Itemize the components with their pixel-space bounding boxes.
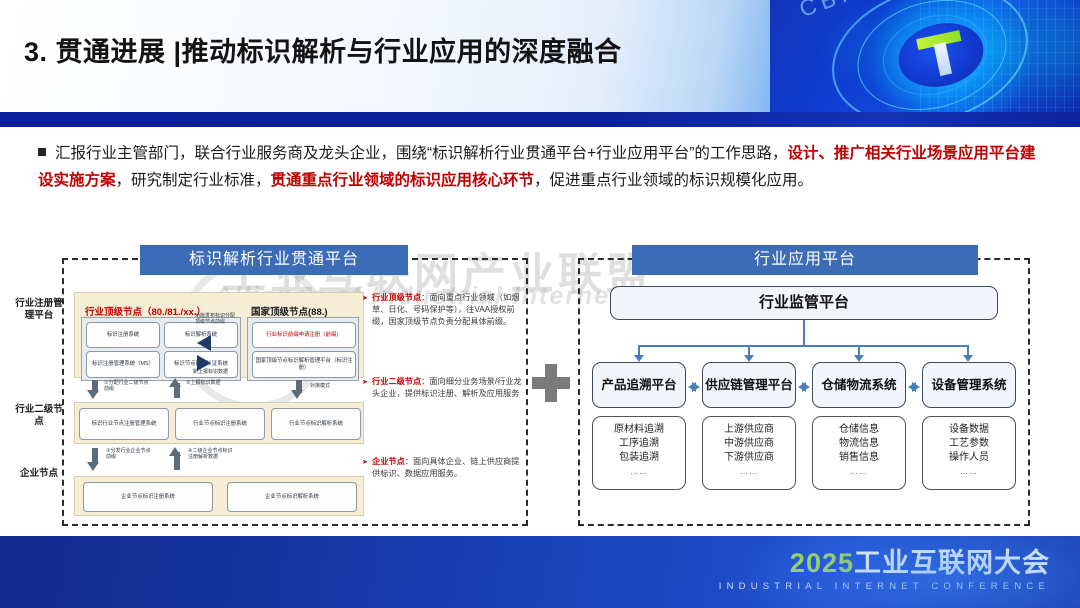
- detail-item: 上游供应商: [703, 423, 795, 437]
- industry-top-node-title: 行业顶级节点（80./81./xx.）: [85, 304, 206, 318]
- arrow-label-report-up: 新上报标识数据: [193, 369, 241, 375]
- box-industry-node-resolution: 行业节点标识解析系统: [271, 408, 361, 440]
- detail-list-logistics: 仓储信息物流信息销售信息……: [812, 416, 906, 490]
- box-enterprise-registration: 企业节点标识注册系统: [83, 482, 213, 512]
- note-secondary-node: 行业二级节点：面向细分业务场景/行业龙头企业，提供标识注册、解析及应用服务: [372, 376, 522, 400]
- slide-footer: 2025工业互联网大会 INDUSTRIAL INTERNET CONFEREN…: [0, 536, 1080, 608]
- arrow-label-2: ②上报标识数据: [186, 380, 232, 386]
- box-supply-chain-mgmt: 供应链管理平台: [702, 362, 796, 408]
- detail-item: 操作人员: [923, 451, 1015, 465]
- box-title-line: 设备管理: [931, 377, 981, 393]
- box-title-line: 产品追溯: [601, 377, 651, 393]
- box-warehouse-logistics: 仓储物流系统: [812, 362, 906, 408]
- national-top-node-title: 国家顶级节点(88.): [251, 304, 328, 318]
- box-title-line: 平台: [768, 377, 793, 393]
- arrow-label-3: 对接模式: [310, 383, 330, 389]
- paragraph-segment-2: ，研究制定行业标准，: [116, 172, 271, 189]
- detail-item: 销售信息: [813, 451, 905, 465]
- paragraph-segment-4: ，促进重点行业领域的标识规模化应用。: [534, 172, 813, 189]
- tree-trunk-line: [803, 320, 805, 346]
- arrow-label-1: ①分配行业二级节点前缀: [104, 380, 150, 393]
- box-title-line: 仓储物流: [821, 377, 871, 393]
- box-title-line: 平台: [652, 377, 677, 393]
- arrow-label-5: ④二级企业节点标识注册解析数据: [188, 448, 236, 461]
- note-1-head: 行业顶级节点: [372, 293, 421, 302]
- box-prefix-application: 行业标识前缀申请注册（前缀）: [252, 322, 356, 348]
- detail-item: 仓储信息: [813, 423, 905, 437]
- slide-root: CBIC 3. 贯通进展 |推动标识解析与行业应用的深度融合 汇报行业主管部门，…: [0, 0, 1080, 608]
- right-panel-inner: 行业监管平台 产品追溯平台 供应链管理平台 仓储物流系统 设备管理系统 原材料追…: [592, 286, 1016, 514]
- box-title-line: 系统: [872, 377, 897, 393]
- row-label-registry: 行业注册管理平台: [14, 298, 64, 322]
- arrow-down-2-icon: [291, 390, 303, 399]
- box-industry-node-registry-mgmt: 标识行业节点注册管理系统: [79, 408, 169, 440]
- box-industry-node-registration: 行业节点标识注册系统: [175, 408, 265, 440]
- paragraph-segment-3: 贯通重点行业领域的标识应用核心环节: [271, 172, 535, 189]
- detail-ellipsis: ……: [813, 465, 905, 479]
- diagram-figure: 工业互联网产业联盟 Alliance of Industrial Interne…: [0, 236, 1080, 536]
- tree-arrow-2-icon: [744, 355, 754, 362]
- left-panel-inner: 行业顶级节点（80./81./xx.） 国家顶级节点(88.) 标识注册系统 标…: [74, 284, 364, 520]
- band-top-nodes: 行业顶级节点（80./81./xx.） 国家顶级节点(88.) 标识注册系统 标…: [74, 292, 364, 378]
- tree-arrow-4-icon: [963, 355, 973, 362]
- right-panel-caption: 行业应用平台: [632, 245, 978, 275]
- plus-connector-icon: [532, 364, 570, 402]
- detail-ellipsis: ……: [703, 465, 795, 479]
- conference-logo-main: 2025工业互联网大会: [719, 548, 1050, 578]
- row-label-enterprise: 企业节点: [14, 468, 64, 480]
- conference-year: 2025: [790, 548, 854, 578]
- detail-item: 下游供应商: [703, 451, 795, 465]
- band-secondary-nodes: 标识行业节点注册管理系统 行业节点标识注册系统 行业节点标识解析系统: [74, 402, 364, 444]
- box-registration-management: 标识注册管理系统（MS）: [86, 351, 160, 378]
- conference-logo: 2025工业互联网大会 INDUSTRIAL INTERNET CONFEREN…: [719, 548, 1050, 592]
- arrow-down-1-icon: [87, 390, 99, 399]
- note-enterprise-node: 企业节点：面向具体企业、链上供应商提供标识、数据应用服务。: [372, 456, 522, 480]
- box-identifier-registration: 标识注册系统: [86, 322, 160, 348]
- tree-arrow-1-icon: [634, 355, 644, 362]
- box-governance-platform: 行业监管平台: [610, 286, 998, 320]
- detail-list-supply-chain: 上游供应商中游供应商下游供应商……: [702, 416, 796, 490]
- note-3-head: 企业节点: [372, 457, 405, 466]
- header-divider-bar: [0, 112, 1080, 127]
- box-equipment-mgmt: 设备管理系统: [922, 362, 1016, 408]
- detail-ellipsis: ……: [593, 465, 685, 479]
- detail-item: 包装追溯: [593, 451, 685, 465]
- detail-item: 中游供应商: [703, 437, 795, 451]
- tree-arrow-3-icon: [854, 355, 864, 362]
- detail-list-traceability: 原材料追溯工序追溯包装追溯……: [592, 416, 686, 490]
- note-industry-top-node: 行业顶级节点：面向重点行业领域（如烟草、日化、号码保护等），往VAA授权前缀，国…: [372, 292, 522, 328]
- body-paragraph: 汇报行业主管部门，联合行业服务商及龙头企业，围绕“标识解析行业贯通平台+行业应用…: [38, 140, 1048, 194]
- arrow-label-4: ③分发行业企业节点前缀: [106, 448, 152, 461]
- arrow-up-2-icon: [169, 447, 181, 456]
- box-product-traceability: 产品追溯平台: [592, 362, 686, 408]
- arrow-down-3-icon: [87, 462, 99, 471]
- left-panel-caption: 标识解析行业贯通平台: [140, 245, 408, 275]
- slide-header: CBIC 3. 贯通进展 |推动标识解析与行业应用的深度融合: [0, 0, 1080, 112]
- detail-item: 设备数据: [923, 423, 1015, 437]
- arrow-up-1-icon: [169, 378, 181, 387]
- arrow-left-icon: [197, 335, 211, 351]
- conference-name-en: INDUSTRIAL INTERNET CONFERENCE: [719, 581, 1050, 592]
- box-national-resolution-platform: 国家顶级节点标识解析管理平台（标识注册）: [252, 351, 356, 378]
- national-top-node-group: 行业标识前缀申请注册（前缀） 国家顶级节点标识解析管理平台（标识注册）: [247, 317, 359, 381]
- tree-branch-line: [638, 345, 969, 347]
- detail-item: 原材料追溯: [593, 423, 685, 437]
- box-enterprise-resolution: 企业节点标识解析系统: [227, 482, 357, 512]
- conference-name-cn: 工业互联网大会: [854, 548, 1050, 578]
- page-title: 3. 贯通进展 |推动标识解析与行业应用的深度融合: [24, 30, 622, 69]
- arrow-label-prefix-down: 功能发布标识分配顶级节点前缀: [195, 313, 237, 326]
- bullet-square-icon: [38, 148, 46, 156]
- box-title-line: 系统: [982, 377, 1007, 393]
- box-title-line: 供应链管理: [705, 377, 768, 393]
- detail-item: 物流信息: [813, 437, 905, 451]
- detail-ellipsis: ……: [923, 465, 1015, 479]
- row-label-secondary: 行业二级节点: [14, 404, 64, 428]
- detail-list-equipment: 设备数据工艺参数操作人员……: [922, 416, 1016, 490]
- note-2-head: 行业二级节点: [372, 377, 421, 386]
- detail-item: 工序追溯: [593, 437, 685, 451]
- detail-item: 工艺参数: [923, 437, 1015, 451]
- hero-graphic: CBIC: [770, 0, 1080, 112]
- paragraph-segment-0: 汇报行业主管部门，联合行业服务商及龙头企业，围绕“标识解析行业贯通平台+行业应用…: [55, 145, 787, 162]
- paragraph-text: 汇报行业主管部门，联合行业服务商及龙头企业，围绕“标识解析行业贯通平台+行业应用…: [38, 145, 1035, 189]
- band-enterprise-nodes: 企业节点标识注册系统 企业节点标识解析系统: [74, 476, 364, 516]
